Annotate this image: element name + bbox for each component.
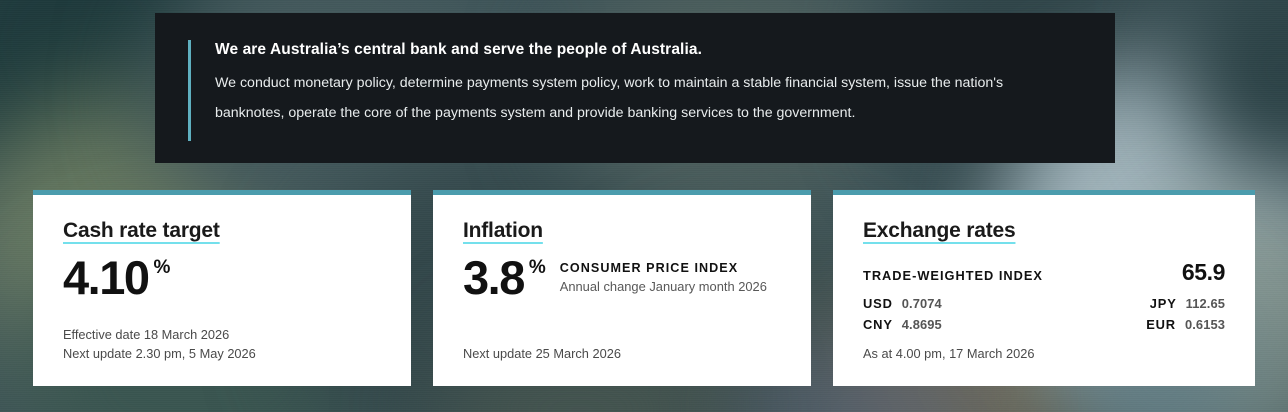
inflation-footer: Next update 25 March 2026 [463, 345, 621, 364]
card-content: Inflation 3.8 % CONSUMER PRICE INDEX Ann… [433, 195, 811, 386]
currency-value: 0.7074 [902, 293, 942, 314]
currency-rate-cny: CNY 4.8695 [863, 314, 942, 335]
currency-value: 112.65 [1186, 293, 1225, 314]
inflation-next-update: Next update 25 March 2026 [463, 345, 621, 364]
currency-value: 0.6153 [1185, 314, 1225, 335]
hero-title: We are Australia’s central bank and serv… [215, 38, 1067, 61]
stat-cards-row: Cash rate target 4.10 % Effective date 1… [33, 190, 1255, 386]
inflation-caption: CONSUMER PRICE INDEX Annual change Janua… [560, 261, 767, 296]
currency-code: JPY [1150, 293, 1177, 314]
hero-body-text: We conduct monetary policy, determine pa… [215, 69, 1055, 129]
card-content: Cash rate target 4.10 % Effective date 1… [33, 195, 411, 386]
cash-rate-figure: 4.10 % [63, 256, 383, 299]
exchange-rates-footer: As at 4.00 pm, 17 March 2026 [863, 345, 1034, 364]
exchange-rates-as-at: As at 4.00 pm, 17 March 2026 [863, 345, 1034, 364]
cash-rate-effective-date: Effective date 18 March 2026 [63, 326, 256, 345]
card-title-cash-rate-target[interactable]: Cash rate target [63, 219, 220, 243]
currency-rate-row: USD 0.7074 JPY 112.65 [863, 293, 1225, 314]
cash-rate-footer: Effective date 18 March 2026 Next update… [63, 326, 256, 364]
currency-rate-row: CNY 4.8695 EUR 0.6153 [863, 314, 1225, 335]
currency-value: 4.8695 [902, 314, 942, 335]
card-title-exchange-rates[interactable]: Exchange rates [863, 219, 1015, 243]
inflation-unit: % [529, 258, 546, 277]
card-content: Exchange rates TRADE-WEIGHTED INDEX 65.9… [833, 195, 1255, 386]
inflation-figure: 3.8 % CONSUMER PRICE INDEX Annual change… [463, 256, 783, 299]
currency-rates-grid: USD 0.7074 JPY 112.65 CNY 4.8695 EUR [863, 293, 1227, 336]
currency-rate-usd: USD 0.7074 [863, 293, 942, 314]
hero-accent-bar [188, 40, 191, 141]
card-exchange-rates[interactable]: Exchange rates TRADE-WEIGHTED INDEX 65.9… [833, 190, 1255, 386]
currency-rate-jpy: JPY 112.65 [1107, 293, 1225, 314]
currency-code: CNY [863, 314, 893, 335]
cash-rate-next-update: Next update 2.30 pm, 5 May 2026 [63, 345, 256, 364]
inflation-measure-period: Annual change January month 2026 [560, 278, 767, 297]
cash-rate-value: 4.10 [63, 256, 148, 299]
currency-code: EUR [1146, 314, 1176, 335]
trade-weighted-index-label: TRADE-WEIGHTED INDEX [863, 268, 1043, 283]
currency-rate-eur: EUR 0.6153 [1107, 314, 1225, 335]
card-cash-rate-target[interactable]: Cash rate target 4.10 % Effective date 1… [33, 190, 411, 386]
card-inflation[interactable]: Inflation 3.8 % CONSUMER PRICE INDEX Ann… [433, 190, 811, 386]
inflation-value: 3.8 [463, 256, 524, 299]
trade-weighted-index-row: TRADE-WEIGHTED INDEX 65.9 [863, 259, 1227, 286]
inflation-measure-label: CONSUMER PRICE INDEX [560, 261, 767, 277]
currency-code: USD [863, 293, 893, 314]
cash-rate-unit: % [153, 258, 170, 277]
hero-statement-banner: We are Australia’s central bank and serv… [155, 13, 1115, 163]
hero-text-block: We are Australia’s central bank and serv… [215, 38, 1067, 129]
trade-weighted-index-value: 65.9 [1182, 259, 1225, 286]
card-title-inflation[interactable]: Inflation [463, 219, 543, 243]
